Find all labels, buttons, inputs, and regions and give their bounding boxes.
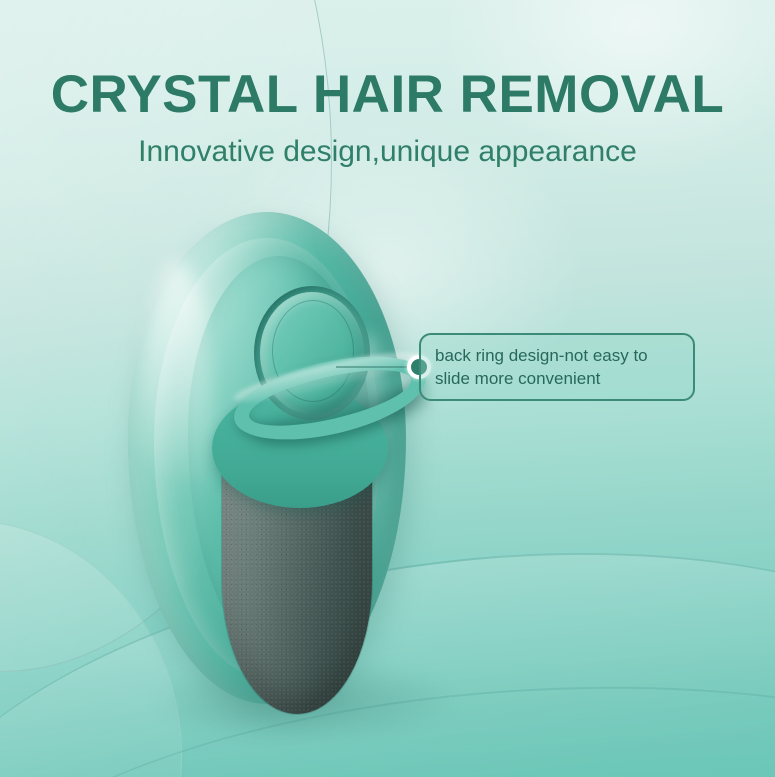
callout-text-line-2: slide more convenient <box>435 367 679 390</box>
product-highlight-left <box>142 260 212 590</box>
callout-box: back ring design-not easy to slide more … <box>419 333 695 401</box>
page-title: CRYSTAL HAIR REMOVAL <box>0 64 775 125</box>
callout-text-line-1: back ring design-not easy to <box>435 344 679 367</box>
callout-connector-line <box>336 366 412 368</box>
product-image <box>128 212 406 704</box>
product-marketing-banner: CRYSTAL HAIR REMOVAL Innovative design,u… <box>0 0 775 777</box>
page-subtitle: Innovative design,unique appearance <box>0 135 775 169</box>
